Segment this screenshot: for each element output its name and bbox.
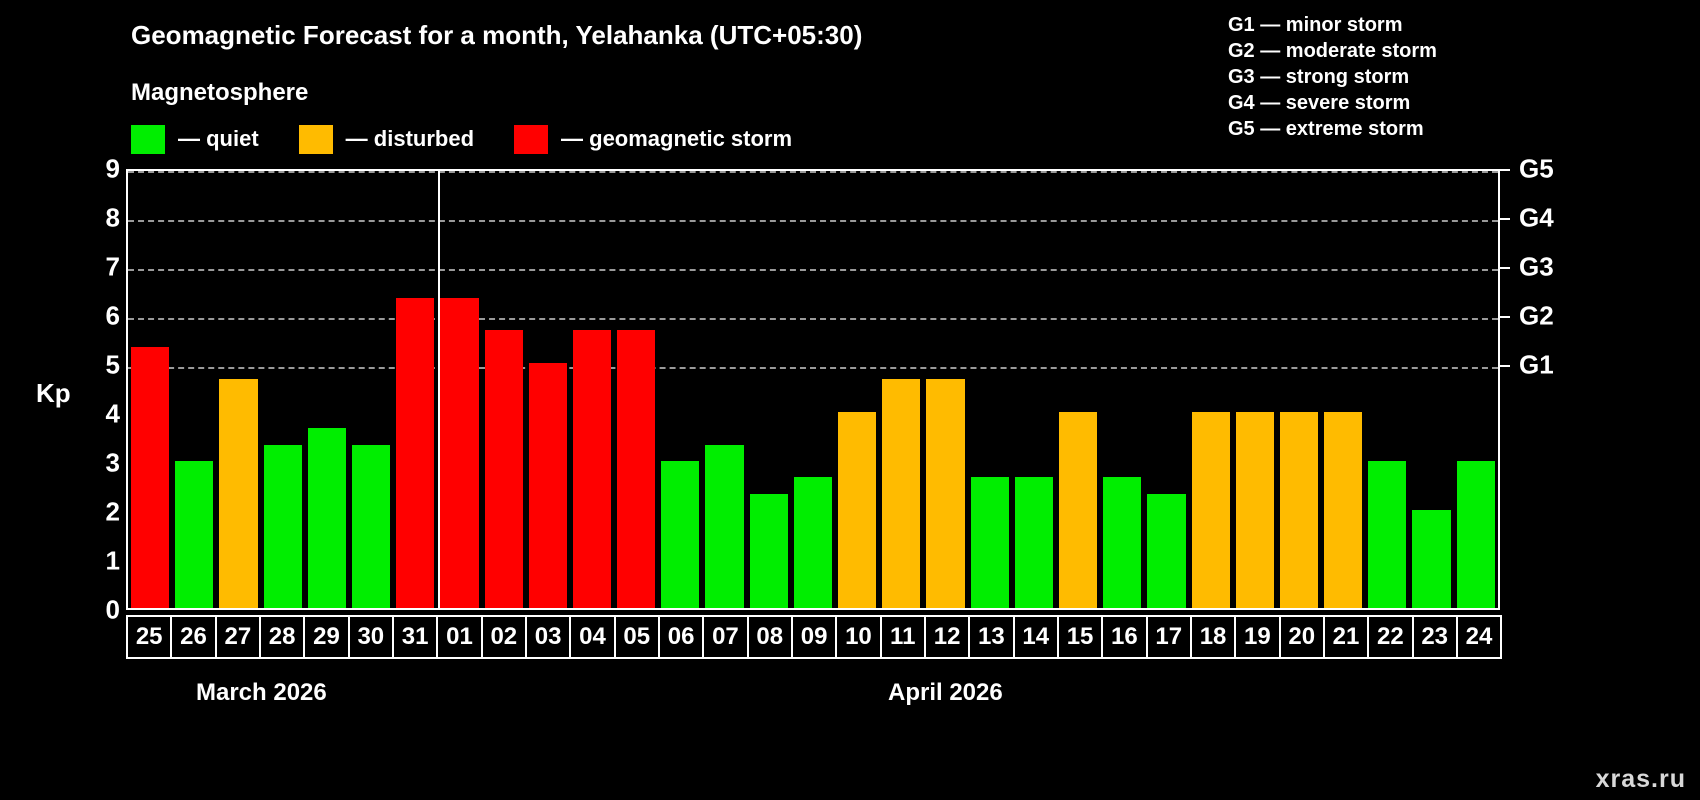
y-axis-ticks: 0123456789: [42, 0, 120, 800]
y-tick-label-3: 3: [80, 448, 120, 479]
day-label-07[interactable]: 07: [702, 615, 748, 659]
legend-item-storm: — geomagnetic storm: [514, 125, 832, 154]
bar-day-12[interactable]: [926, 379, 964, 608]
bar-cell-day-26[interactable]: [172, 171, 216, 608]
day-label-25[interactable]: 25: [126, 615, 172, 659]
bar-cell-day-11[interactable]: [879, 171, 923, 608]
bar-day-29[interactable]: [308, 428, 346, 608]
day-label-15[interactable]: 15: [1057, 615, 1103, 659]
bar-cell-day-31[interactable]: [393, 171, 437, 608]
bar-cell-day-18[interactable]: [1189, 171, 1233, 608]
day-label-03[interactable]: 03: [525, 615, 571, 659]
bar-cell-day-12[interactable]: [923, 171, 967, 608]
legend-label-disturbed: — disturbed: [346, 126, 474, 152]
bar-day-25[interactable]: [131, 347, 169, 608]
y-tick-label-7: 7: [80, 252, 120, 283]
y-tick-label-4: 4: [80, 399, 120, 430]
legend-swatch-disturbed-icon: [299, 125, 333, 154]
bar-day-16[interactable]: [1103, 477, 1141, 608]
gscale-legend-line-3: G3 — strong storm: [1228, 64, 1437, 90]
magnetosphere-section-label: Magnetosphere: [131, 79, 308, 107]
bar-cell-day-21[interactable]: [1321, 171, 1365, 608]
bar-day-24[interactable]: [1457, 461, 1495, 608]
day-label-24[interactable]: 24: [1456, 615, 1502, 659]
legend-item-quiet: — quiet: [131, 125, 299, 154]
gscale-legend-line-5: G5 — extreme storm: [1228, 116, 1437, 142]
bar-day-28[interactable]: [264, 445, 302, 608]
day-label-21[interactable]: 21: [1323, 615, 1369, 659]
geomagnetic-forecast-chart: Geomagnetic Forecast for a month, Yelaha…: [0, 0, 1700, 800]
y-tick-label-8: 8: [80, 203, 120, 234]
g-tick-mark-g5: [1500, 169, 1510, 171]
bar-cell-day-22[interactable]: [1365, 171, 1409, 608]
bar-day-19[interactable]: [1236, 412, 1274, 608]
day-label-13[interactable]: 13: [968, 615, 1014, 659]
day-label-04[interactable]: 04: [569, 615, 615, 659]
y-tick-label-1: 1: [80, 546, 120, 577]
g-tick-label-g1: G1: [1519, 350, 1554, 381]
bar-cell-day-27[interactable]: [216, 171, 260, 608]
day-label-29[interactable]: 29: [303, 615, 349, 659]
legend-label-storm: — geomagnetic storm: [561, 126, 792, 152]
bar-day-11[interactable]: [882, 379, 920, 608]
gscale-legend-line-1: G1 — minor storm: [1228, 12, 1437, 38]
day-label-01[interactable]: 01: [436, 615, 482, 659]
month-caption-first: March 2026: [196, 679, 327, 707]
bar-cell-day-06[interactable]: [658, 171, 702, 608]
bar-series: [128, 171, 1498, 608]
day-label-23[interactable]: 23: [1412, 615, 1458, 659]
month-caption-second: April 2026: [888, 679, 1003, 707]
bar-cell-day-09[interactable]: [791, 171, 835, 608]
bar-cell-day-28[interactable]: [261, 171, 305, 608]
bar-cell-day-19[interactable]: [1233, 171, 1277, 608]
bar-cell-day-02[interactable]: [482, 171, 526, 608]
bar-day-18[interactable]: [1192, 412, 1230, 608]
day-label-26[interactable]: 26: [170, 615, 216, 659]
day-label-18[interactable]: 18: [1190, 615, 1236, 659]
bar-day-08[interactable]: [750, 494, 788, 608]
bar-day-21[interactable]: [1324, 412, 1362, 608]
day-label-22[interactable]: 22: [1367, 615, 1413, 659]
bar-day-15[interactable]: [1059, 412, 1097, 608]
bar-cell-day-01[interactable]: [437, 171, 481, 608]
bar-cell-day-03[interactable]: [526, 171, 570, 608]
bar-cell-day-04[interactable]: [570, 171, 614, 608]
bar-day-31[interactable]: [396, 298, 434, 608]
bar-cell-day-07[interactable]: [702, 171, 746, 608]
legend-swatch-quiet-icon: [131, 125, 165, 154]
y-tick-label-0: 0: [80, 595, 120, 626]
day-label-27[interactable]: 27: [215, 615, 261, 659]
bar-day-27[interactable]: [219, 379, 257, 608]
day-label-08[interactable]: 08: [747, 615, 793, 659]
bar-cell-day-14[interactable]: [1012, 171, 1056, 608]
bar-cell-day-20[interactable]: [1277, 171, 1321, 608]
bar-day-01[interactable]: [440, 298, 478, 608]
g-tick-mark-g2: [1500, 316, 1510, 318]
bar-day-05[interactable]: [617, 330, 655, 608]
day-label-06[interactable]: 06: [658, 615, 704, 659]
legend-item-disturbed: — disturbed: [299, 125, 514, 154]
gscale-legend: G1 — minor stormG2 — moderate stormG3 — …: [1228, 12, 1437, 142]
bar-cell-day-10[interactable]: [835, 171, 879, 608]
gscale-legend-line-4: G4 — severe storm: [1228, 90, 1437, 116]
y-tick-label-9: 9: [80, 154, 120, 185]
bar-day-23[interactable]: [1412, 510, 1450, 608]
g-tick-label-g3: G3: [1519, 252, 1554, 283]
bar-day-02[interactable]: [485, 330, 523, 608]
bar-cell-day-17[interactable]: [1144, 171, 1188, 608]
day-label-16[interactable]: 16: [1101, 615, 1147, 659]
day-label-05[interactable]: 05: [614, 615, 660, 659]
plot-area: [126, 169, 1500, 610]
g-tick-label-g2: G2: [1519, 301, 1554, 332]
y-tick-label-6: 6: [80, 301, 120, 332]
day-label-17[interactable]: 17: [1146, 615, 1192, 659]
bar-day-22[interactable]: [1368, 461, 1406, 608]
day-label-20[interactable]: 20: [1279, 615, 1325, 659]
day-label-12[interactable]: 12: [924, 615, 970, 659]
bar-day-20[interactable]: [1280, 412, 1318, 608]
watermark: xras.ru: [1596, 765, 1686, 794]
bar-day-07[interactable]: [705, 445, 743, 608]
day-label-10[interactable]: 10: [835, 615, 881, 659]
bar-day-13[interactable]: [971, 477, 1009, 608]
day-label-09[interactable]: 09: [791, 615, 837, 659]
bar-day-26[interactable]: [175, 461, 213, 608]
bar-cell-day-13[interactable]: [968, 171, 1012, 608]
legend: — quiet— disturbed— geomagnetic storm: [131, 123, 832, 155]
bar-day-17[interactable]: [1147, 494, 1185, 608]
bar-day-14[interactable]: [1015, 477, 1053, 608]
bar-cell-day-23[interactable]: [1409, 171, 1453, 608]
bar-day-10[interactable]: [838, 412, 876, 608]
y-tick-label-2: 2: [80, 497, 120, 528]
bar-day-09[interactable]: [794, 477, 832, 608]
day-label-14[interactable]: 14: [1013, 615, 1059, 659]
bar-day-06[interactable]: [661, 461, 699, 608]
bar-cell-day-25[interactable]: [128, 171, 172, 608]
day-label-30[interactable]: 30: [348, 615, 394, 659]
day-label-28[interactable]: 28: [259, 615, 305, 659]
bar-cell-day-30[interactable]: [349, 171, 393, 608]
bar-day-04[interactable]: [573, 330, 611, 608]
bar-cell-day-16[interactable]: [1100, 171, 1144, 608]
day-label-31[interactable]: 31: [392, 615, 438, 659]
bar-day-30[interactable]: [352, 445, 390, 608]
legend-label-quiet: — quiet: [178, 126, 259, 152]
bar-day-03[interactable]: [529, 363, 567, 608]
g-tick-label-g4: G4: [1519, 203, 1554, 234]
bar-cell-day-15[interactable]: [1056, 171, 1100, 608]
g-tick-label-g5: G5: [1519, 154, 1554, 185]
gscale-legend-line-2: G2 — moderate storm: [1228, 38, 1437, 64]
day-label-02[interactable]: 02: [481, 615, 527, 659]
g-tick-mark-g1: [1500, 365, 1510, 367]
day-label-19[interactable]: 19: [1234, 615, 1280, 659]
g-tick-mark-g4: [1500, 218, 1510, 220]
y-tick-label-5: 5: [80, 350, 120, 381]
bar-cell-day-24[interactable]: [1454, 171, 1498, 608]
g-tick-mark-g3: [1500, 267, 1510, 269]
bar-cell-day-05[interactable]: [614, 171, 658, 608]
bar-cell-day-29[interactable]: [305, 171, 349, 608]
day-label-11[interactable]: 11: [880, 615, 926, 659]
page-title: Geomagnetic Forecast for a month, Yelaha…: [131, 20, 862, 51]
bar-cell-day-08[interactable]: [747, 171, 791, 608]
legend-swatch-storm-icon: [514, 125, 548, 154]
day-axis: 2526272829303101020304050607080910111213…: [126, 615, 1500, 659]
